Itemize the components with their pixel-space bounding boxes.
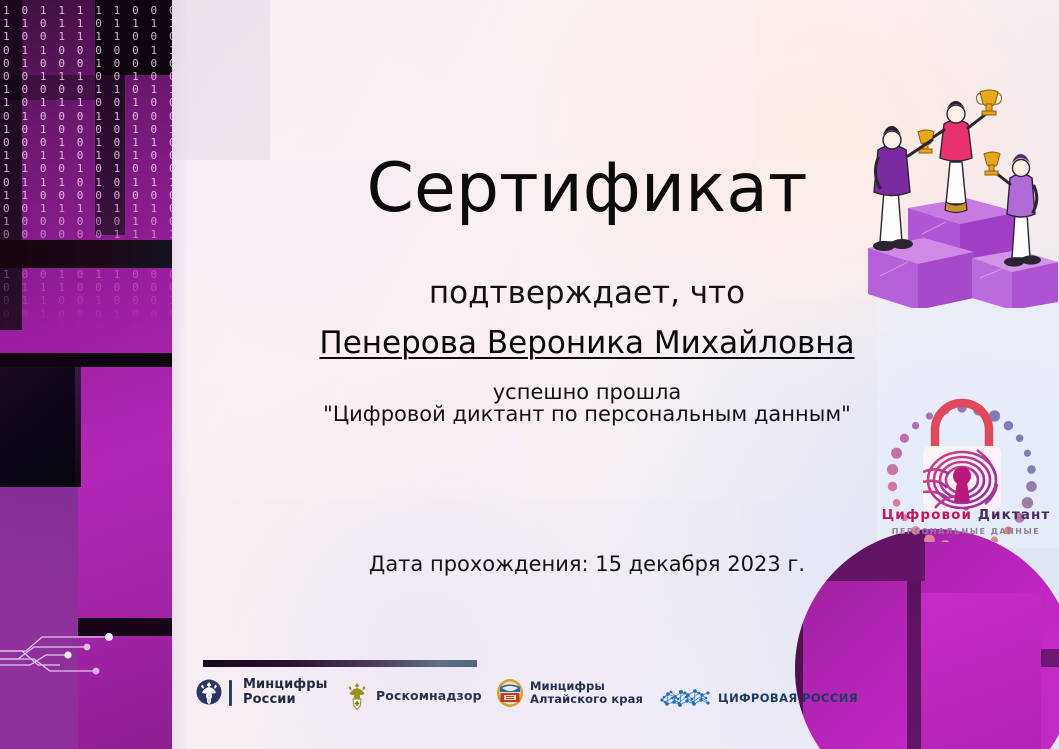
confirm-line: подтверждает, что (172, 276, 1002, 310)
logo-separator-bar (229, 680, 232, 706)
recipient-name: Пенерова Вероника Михайловна (172, 325, 1002, 362)
logo-label: Минцифры России (243, 678, 328, 707)
brand-title: Цифровой Диктант (877, 509, 1055, 523)
altai-krai-coat-of-arms (496, 678, 524, 708)
certificate-page: 1 0 1 1 1 1 1 0 0 0 1 0 1 1 1 1 1 0 1 1 … (0, 0, 1059, 749)
binary-digits: 1 0 1 1 1 1 1 0 0 0 1 0 1 1 1 1 1 0 1 1 … (0, 0, 172, 330)
russia-network-map (658, 684, 712, 712)
partner-logos: Минцифры России Роскомнадзор (196, 676, 866, 722)
strip-block (75, 367, 81, 487)
binary-code-strip: 1 0 1 1 1 1 1 0 0 0 1 0 1 1 1 1 1 0 1 1 … (0, 0, 172, 749)
completion-date: Дата прохождения: 15 декабря 2023 г. (172, 552, 1002, 576)
strip-block (0, 353, 172, 367)
roskomnadzor-logo: Роскомнадзор (344, 682, 482, 710)
circuit-traces (0, 607, 150, 707)
minceki-rossii-logo: Минцифры России (196, 678, 328, 708)
brand-wordmark: Цифровой Диктант ПЕРСОНАЛЬНЫЕ ДАННЫЕ (877, 509, 1055, 536)
logo-label: Роскомнадзор (376, 689, 482, 703)
footer-divider (203, 660, 477, 667)
double-headed-eagle-emblem (196, 678, 222, 708)
brand-tagline: ПЕРСОНАЛЬНЫЕ ДАННЫЕ (877, 528, 1055, 536)
recipient-name-text: Пенерова Вероника Михайловна (319, 325, 854, 361)
brand-word-one: Цифровой (882, 507, 972, 523)
page-title: Сертификат (172, 155, 1002, 223)
strip-block (0, 240, 172, 268)
minceki-altai-logo: Минцифры Алтайского края (496, 678, 643, 708)
strip-block (0, 367, 75, 487)
brand-word-two: Диктант (978, 507, 1050, 523)
digital-russia-logo: ЦИФРОВАЯ РОССИЯ (658, 684, 858, 712)
logo-label: Минцифры Алтайского края (530, 680, 643, 706)
gold-eagle-emblem (344, 682, 370, 710)
logo-label: ЦИФРОВАЯ РОССИЯ (718, 692, 858, 705)
